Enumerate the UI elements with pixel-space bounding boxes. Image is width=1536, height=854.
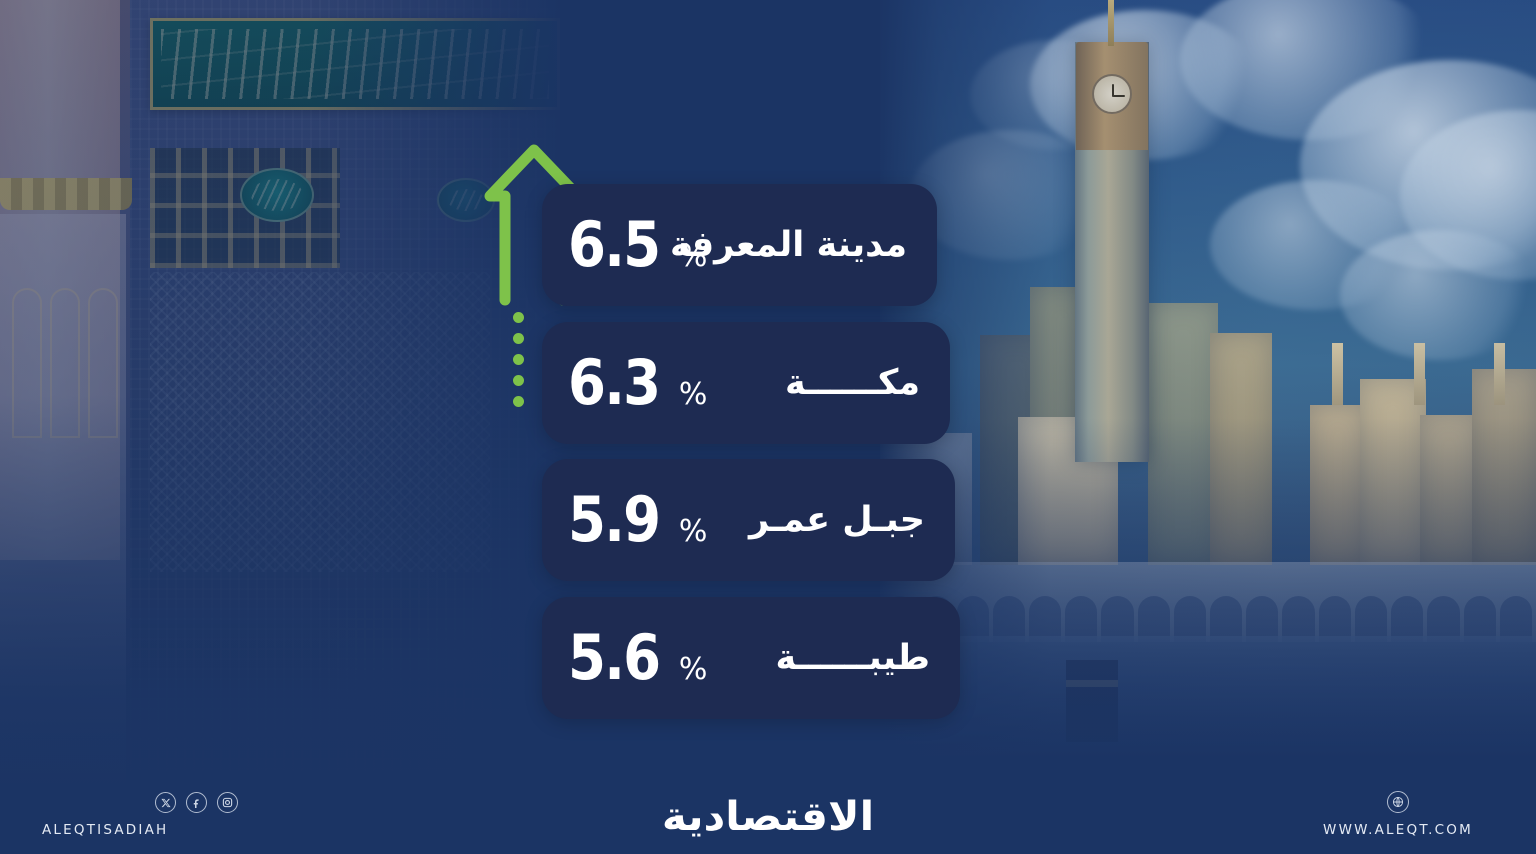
percent-sign: % — [679, 517, 708, 547]
instagram-icon[interactable] — [217, 792, 238, 813]
stat-label: مدينة المعرفة — [670, 225, 907, 265]
stat-card-row-2[interactable]: 6.3 % مكــــــة — [542, 322, 950, 444]
stat-value: 5.9 — [568, 489, 659, 551]
stat-card-row-3[interactable]: 5.9 % جبـل عمـر — [542, 459, 955, 581]
stat-card-list: 6.5 % مدينة المعرفة 6.3 % مكــــــة 5.9 … — [0, 0, 1536, 854]
footer: ALEQTISADIAH الاقتصادية WWW.ALEQT.COM — [0, 744, 1536, 854]
facebook-icon[interactable] — [186, 792, 207, 813]
value-group: 5.9 % — [568, 489, 707, 551]
footer-social-block: ALEQTISADIAH — [38, 792, 238, 838]
footer-web-block: WWW.ALEQT.COM — [1298, 791, 1498, 838]
stat-card-row-1[interactable]: 6.5 % مدينة المعرفة — [542, 184, 937, 306]
stat-card-row-4[interactable]: 5.6 % طيبــــــة — [542, 597, 960, 719]
percent-sign: % — [679, 655, 708, 685]
stat-label: جبـل عمـر — [749, 500, 925, 540]
footer-url: WWW.ALEQT.COM — [1298, 822, 1498, 838]
social-links — [38, 792, 238, 813]
stat-label: مكــــــة — [785, 363, 920, 403]
globe-icon[interactable] — [1387, 791, 1409, 813]
footer-brand-handle: ALEQTISADIAH — [38, 822, 238, 838]
x-icon[interactable] — [155, 792, 176, 813]
aleqtisadiah-logo-text: الاقتصادية — [662, 794, 874, 840]
infographic-stage: 6.5 % مدينة المعرفة 6.3 % مكــــــة 5.9 … — [0, 0, 1536, 854]
value-group: 5.6 % — [568, 627, 707, 689]
value-group: 6.3 % — [568, 352, 707, 414]
stat-value: 6.5 — [568, 214, 659, 276]
percent-sign: % — [679, 380, 708, 410]
stat-value: 6.3 — [568, 352, 659, 414]
stat-value: 5.6 — [568, 627, 659, 689]
stat-label: طيبــــــة — [775, 638, 930, 678]
footer-logo: الاقتصادية — [668, 794, 868, 840]
